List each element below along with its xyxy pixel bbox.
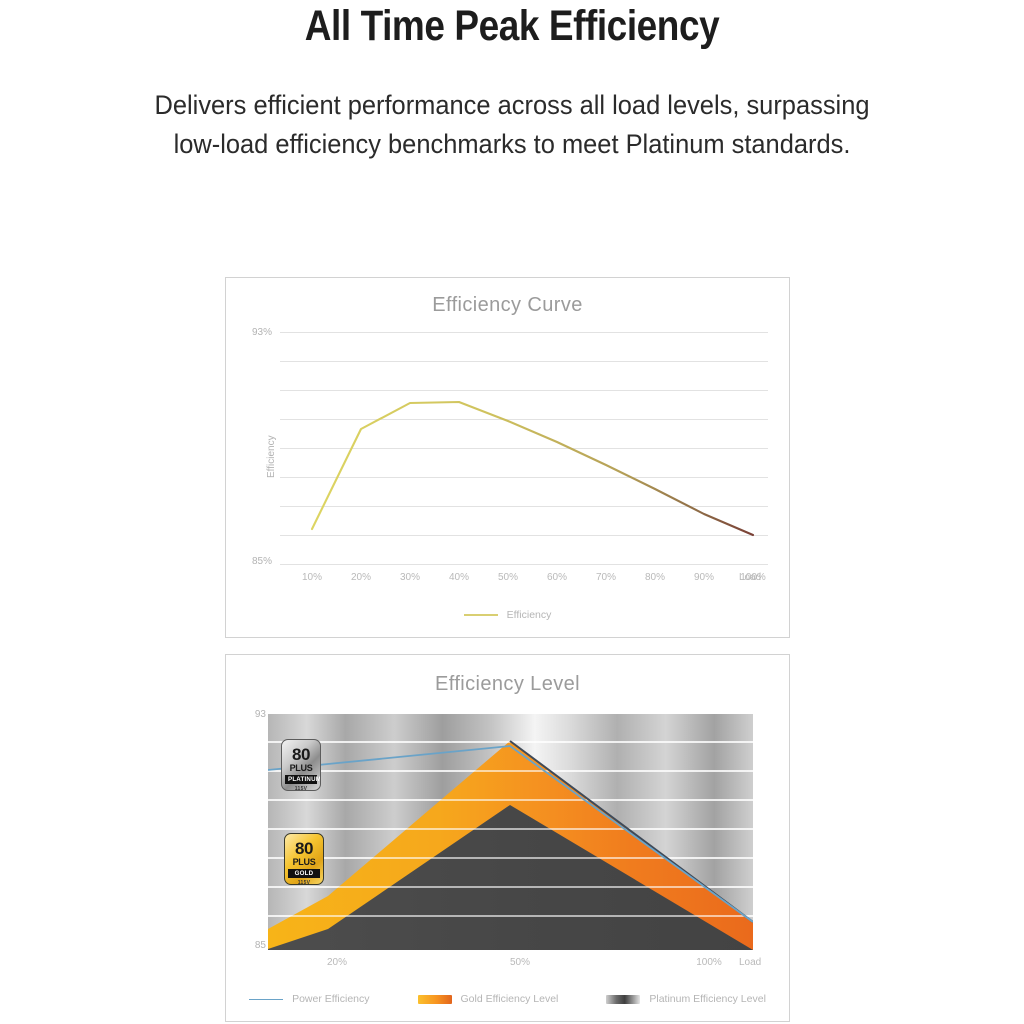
efficiency-curve-xtick-5: 60%: [532, 572, 582, 583]
efficiency-curve-xtick-1: 20%: [336, 572, 386, 583]
badge-platinum-voltage: 115V: [295, 787, 308, 791]
efficiency-level-ytick-93: 93: [224, 709, 266, 720]
efficiency-level-panel: Efficiency Level 93 85: [225, 654, 790, 1022]
efficiency-curve-panel: Efficiency Curve Efficiency 93% 85%: [225, 277, 790, 638]
efficiency-level-xtick-100: 100%: [684, 957, 734, 968]
efficiency-line-swatch-icon: [464, 614, 498, 616]
efficiency-curve-xtick-3: 40%: [434, 572, 484, 583]
efficiency-curve-xtick-2: 30%: [385, 572, 435, 583]
power-efficiency-line-swatch-icon: [249, 999, 283, 1000]
efficiency-level-ytick-85: 85: [224, 940, 266, 951]
efficiency-curve-ytick-93: 93%: [230, 327, 272, 338]
efficiency-curve-legend: Efficiency: [226, 609, 789, 621]
efficiency-curve-xtick-6: 70%: [581, 572, 631, 583]
efficiency-curve-xtick-8: 90%: [679, 572, 729, 583]
legend-item-platinum-efficiency[interactable]: Platinum Efficiency Level: [606, 993, 766, 1005]
badge-gold-voltage: 115V: [298, 881, 311, 885]
legend-label-power-efficiency: Power Efficiency: [292, 993, 369, 1005]
efficiency-curve-gridlines: [280, 333, 768, 565]
efficiency-curve-ytick-85: 85%: [230, 556, 272, 567]
badge-gold-plus: PLUS: [293, 858, 316, 867]
efficiency-curve-y-axis-title: Efficiency: [266, 435, 277, 478]
efficiency-curve-xtick-7: 80%: [630, 572, 680, 583]
efficiency-curve-plot: [280, 326, 768, 568]
efficiency-level-plot: [268, 714, 753, 950]
legend-label-gold-efficiency: Gold Efficiency Level: [461, 993, 559, 1005]
badge-gold-number: 80: [295, 840, 313, 857]
efficiency-curve-xtick-4: 50%: [483, 572, 533, 583]
badge-gold-tier: GOLD: [288, 869, 320, 878]
legend-label-efficiency: Efficiency: [507, 609, 552, 621]
efficiency-level-title: Efficiency Level: [226, 673, 789, 696]
page-title: All Time Peak Efficiency: [72, 2, 953, 51]
legend-item-power-efficiency[interactable]: Power Efficiency: [249, 993, 369, 1005]
badge-platinum-tier: PLATINUM: [285, 775, 317, 784]
efficiency-curve-xtick-0: 10%: [287, 572, 337, 583]
efficiency-level-x-axis-title: Load: [739, 957, 819, 968]
badge-platinum-number: 80: [292, 746, 310, 763]
efficiency-level-xtick-20: 20%: [312, 957, 362, 968]
efficiency-level-xtick-50: 50%: [495, 957, 545, 968]
efficiency-curve-line: [312, 402, 753, 535]
badge-80plus-platinum: 80 PLUS PLATINUM 115V: [281, 739, 321, 791]
product-infographic-page: All Time Peak Efficiency Delivers effici…: [0, 0, 1024, 1024]
efficiency-level-legend: Power Efficiency Gold Efficiency Level P…: [226, 993, 789, 1005]
gold-area-swatch-icon: [418, 995, 452, 1004]
legend-label-platinum-efficiency: Platinum Efficiency Level: [649, 993, 766, 1005]
badge-platinum-plus: PLUS: [290, 764, 313, 773]
badge-80plus-gold: 80 PLUS GOLD 115V: [284, 833, 324, 885]
legend-item-gold-efficiency[interactable]: Gold Efficiency Level: [418, 993, 559, 1005]
platinum-area-swatch-icon: [606, 995, 640, 1004]
efficiency-curve-title: Efficiency Curve: [226, 294, 789, 317]
page-subtitle: Delivers efficient performance across al…: [128, 86, 896, 163]
legend-item-efficiency[interactable]: Efficiency: [464, 609, 552, 621]
efficiency-curve-x-axis-title: Load: [739, 572, 819, 583]
